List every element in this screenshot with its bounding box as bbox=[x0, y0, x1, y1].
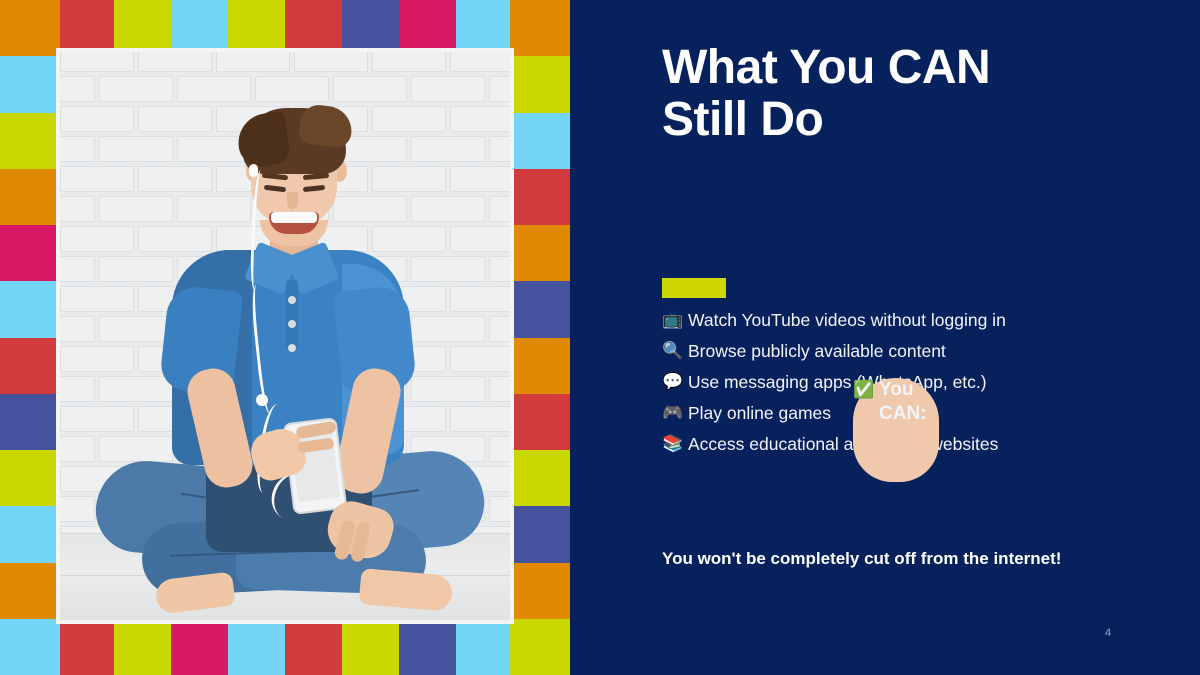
right-bare-foot bbox=[359, 568, 454, 612]
border-tile-red bbox=[0, 338, 60, 394]
border-tile-lime bbox=[342, 620, 399, 675]
right-content-panel: What You CAN Still Do ✅You CAN:📺Watch Yo… bbox=[570, 0, 1200, 675]
border-tile-sky bbox=[510, 113, 570, 169]
border-tiles-top bbox=[0, 0, 570, 52]
border-tile-lime bbox=[228, 0, 285, 52]
border-tile-pink bbox=[399, 0, 456, 52]
border-tile-lime bbox=[0, 450, 60, 506]
border-tile-lime bbox=[510, 619, 570, 675]
earbud-left bbox=[249, 164, 258, 177]
border-tile-indigo bbox=[399, 620, 456, 675]
border-tile-sky bbox=[0, 619, 60, 675]
border-tile-red bbox=[57, 0, 114, 52]
border-tile-orange bbox=[510, 0, 570, 56]
border-tile-indigo bbox=[342, 0, 399, 52]
border-tiles-bottom bbox=[0, 620, 570, 675]
border-tile-sky bbox=[456, 620, 513, 675]
slide-title-line-2: Still Do bbox=[662, 94, 1162, 146]
border-tile-red bbox=[510, 169, 570, 225]
books-icon: 📚 bbox=[662, 432, 688, 456]
border-tile-red bbox=[285, 0, 342, 52]
shirt-placket bbox=[286, 280, 298, 350]
border-tile-sky bbox=[456, 0, 513, 52]
photo-teen-with-smartphone bbox=[60, 52, 510, 620]
hair-side-left bbox=[234, 110, 292, 169]
border-tile-red bbox=[57, 620, 114, 675]
border-tile-sky bbox=[0, 506, 60, 562]
bullet-text: Browse publicly available content bbox=[688, 339, 946, 363]
border-tile-pink bbox=[0, 225, 60, 281]
figure-teenage-boy bbox=[60, 52, 510, 620]
bullet-text: Access educational and health websites bbox=[688, 432, 998, 456]
closing-statement: You won't be completely cut off from the… bbox=[662, 548, 1072, 570]
border-tile-lime bbox=[114, 620, 171, 675]
cable-clip bbox=[256, 394, 268, 406]
bullet-item: 📺Watch YouTube videos without logging in bbox=[662, 308, 1182, 332]
bullet-list: ✅You CAN:📺Watch YouTube videos without l… bbox=[662, 308, 1182, 463]
hair-side-right bbox=[298, 103, 354, 149]
bullet-text: Use messaging apps (WhatsApp, etc.) bbox=[688, 370, 987, 394]
presentation-slide: What You CAN Still Do ✅You CAN:📺Watch Yo… bbox=[0, 0, 1200, 675]
border-tile-lime bbox=[510, 56, 570, 112]
border-tile-sky bbox=[0, 56, 60, 112]
border-tile-orange bbox=[0, 563, 60, 619]
border-tile-sky bbox=[228, 620, 285, 675]
bullet-text: Play online games bbox=[688, 401, 831, 425]
shirt-button bbox=[288, 296, 296, 304]
border-tile-orange bbox=[0, 0, 60, 56]
border-tile-red bbox=[285, 620, 342, 675]
nose bbox=[287, 192, 298, 209]
bullet-text: Watch YouTube videos without logging in bbox=[688, 308, 1006, 332]
magnifying-glass-icon: 🔍 bbox=[662, 339, 688, 363]
border-tile-orange bbox=[510, 225, 570, 281]
border-tile-sky bbox=[171, 0, 228, 52]
teeth bbox=[271, 212, 317, 223]
border-tile-orange bbox=[0, 169, 60, 225]
border-tile-indigo bbox=[510, 281, 570, 337]
border-tile-pink bbox=[171, 620, 228, 675]
left-photo-panel bbox=[0, 0, 570, 675]
bullet-item: 🔍Browse publicly available content bbox=[662, 339, 1182, 363]
check-mark-button-icon: ✅ bbox=[853, 378, 879, 402]
slide-title-line-1: What You CAN bbox=[662, 42, 1162, 94]
border-tile-indigo bbox=[510, 506, 570, 562]
video-game-controller-icon: 🎮 bbox=[662, 401, 688, 425]
shirt-button bbox=[288, 320, 296, 328]
border-tile-red bbox=[510, 394, 570, 450]
speech-balloon-icon: 💬 bbox=[662, 370, 688, 394]
bullet-text: You CAN: bbox=[879, 378, 939, 426]
border-tile-sky bbox=[0, 281, 60, 337]
border-tile-indigo bbox=[0, 394, 60, 450]
television-icon: 📺 bbox=[662, 308, 688, 332]
shirt-button bbox=[288, 344, 296, 352]
border-tile-lime bbox=[114, 0, 171, 52]
smiling-mouth bbox=[269, 212, 319, 234]
bullet-item: ✅You CAN: bbox=[853, 378, 939, 482]
accent-bar bbox=[662, 278, 726, 298]
border-tile-orange bbox=[510, 338, 570, 394]
border-tile-lime bbox=[0, 113, 60, 169]
border-tiles-left bbox=[0, 0, 60, 675]
border-tiles-right bbox=[510, 0, 570, 675]
border-tile-lime bbox=[510, 450, 570, 506]
slide-title: What You CAN Still Do bbox=[662, 42, 1162, 146]
page-number: 4 bbox=[1105, 627, 1111, 639]
border-tile-orange bbox=[510, 563, 570, 619]
